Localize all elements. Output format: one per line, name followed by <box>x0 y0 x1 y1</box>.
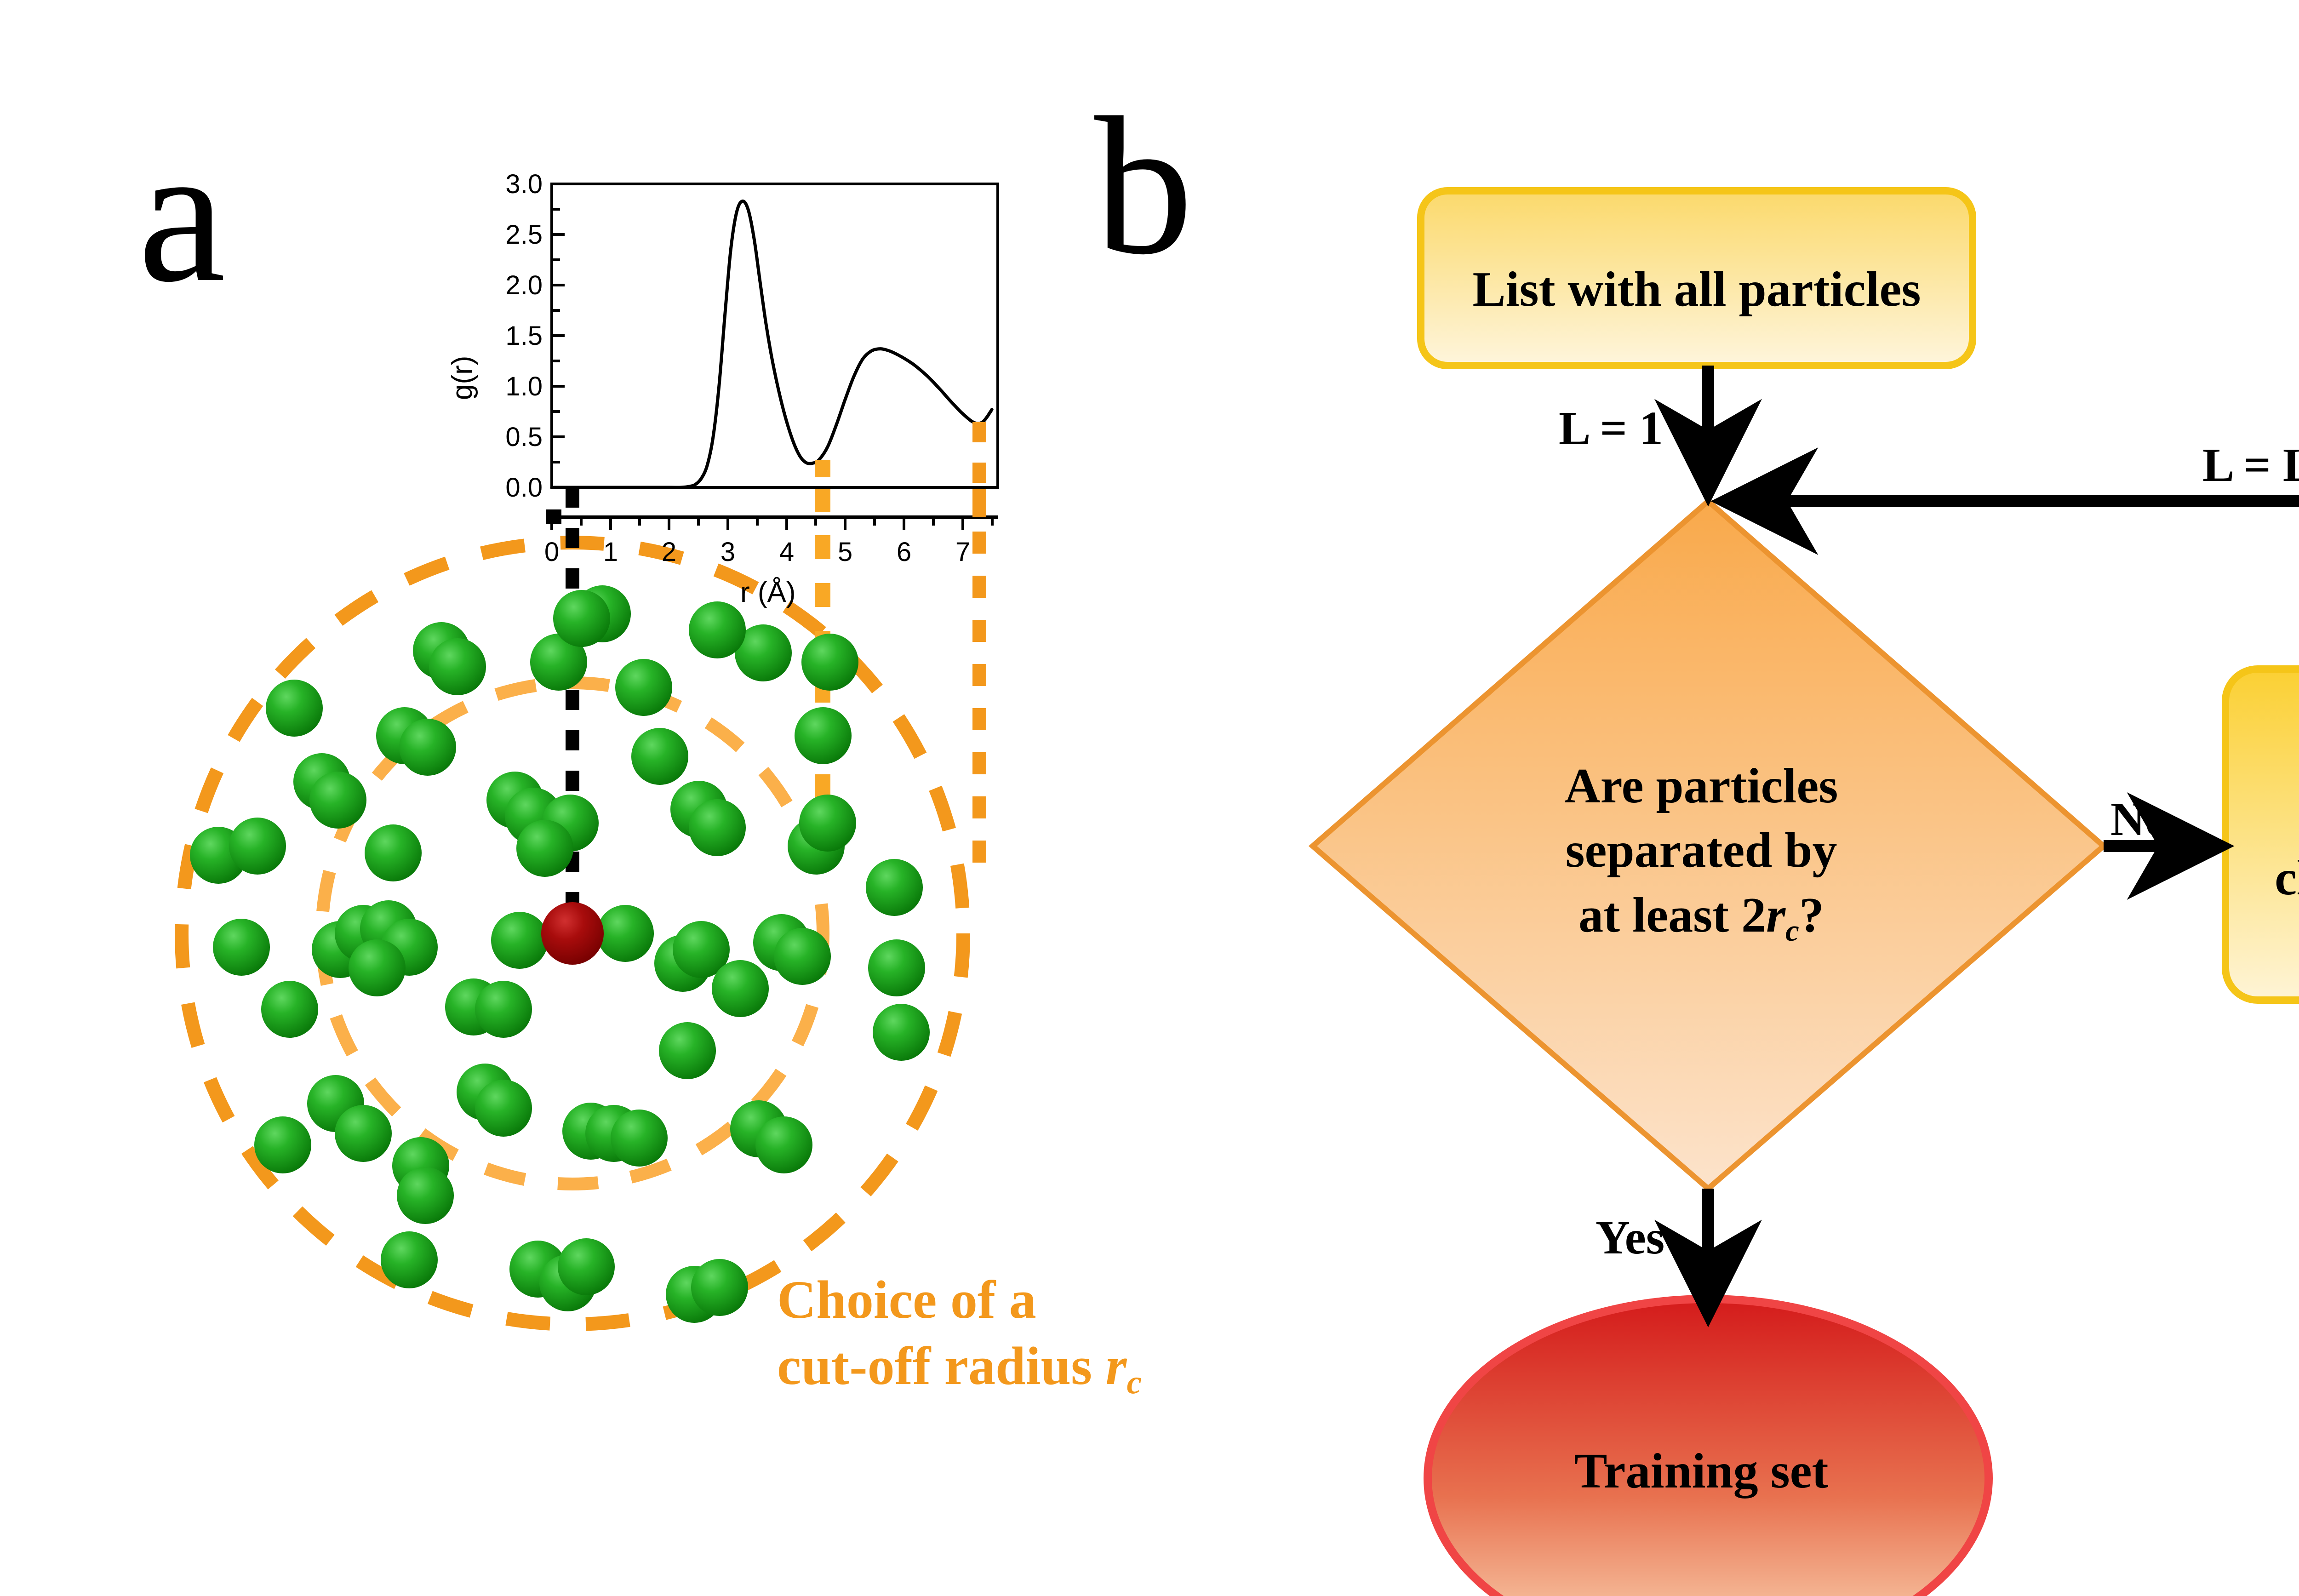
remove-line-2: close to the Lth particle <box>2275 851 2299 905</box>
flow-node-remove-label: Remove particles too close to the Lth pa… <box>2253 782 2299 911</box>
decision-line-3-prefix: at least 2 <box>1578 888 1766 943</box>
decision-symbol: r <box>1766 888 1785 943</box>
flow-node-decision-label: Are particles separated by at least 2rc? <box>1485 754 1917 951</box>
flowchart-graphic <box>0 0 2299 1596</box>
decision-line-3-suffix: ? <box>1799 888 1824 943</box>
flow-node-training-label: Training set <box>1425 1439 1977 1504</box>
decision-line-2: separated by <box>1566 823 1837 878</box>
flow-edge-label-no: No <box>2110 795 2169 843</box>
flow-node-start-label: List with all particles <box>1421 257 1973 322</box>
decision-subscript: c <box>1785 914 1799 948</box>
flow-edge-label-l-increment: L = L+1 <box>2202 441 2299 489</box>
flow-edge-label-yes: Yes <box>1596 1214 1664 1262</box>
figure-root: a b <box>0 0 2299 1596</box>
flow-edge-label-l-equals-1: L = 1 <box>1559 405 1663 452</box>
decision-line-1: Are particles <box>1565 759 1838 813</box>
